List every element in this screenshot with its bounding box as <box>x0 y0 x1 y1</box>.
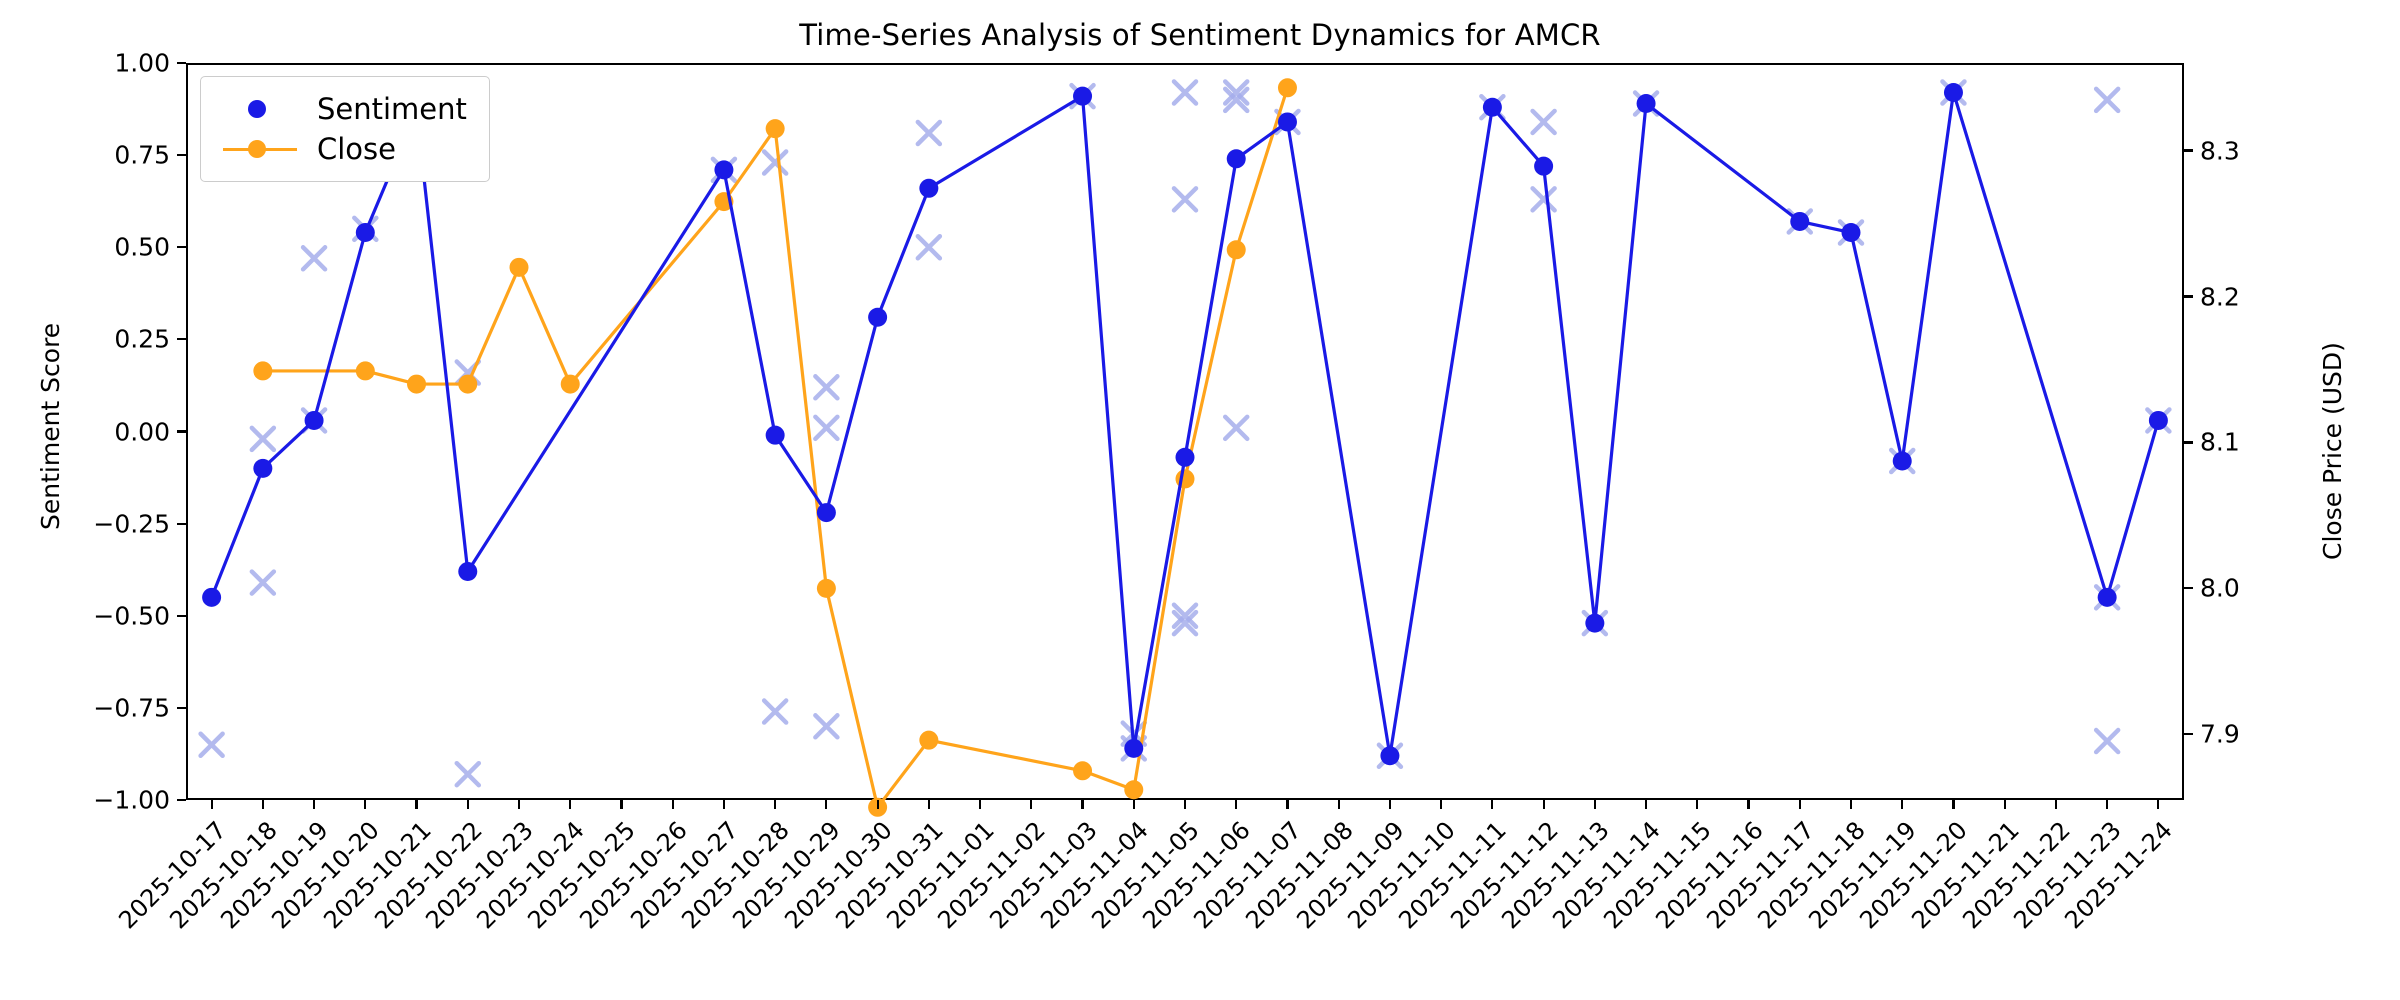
x-tick-mark <box>1184 800 1186 809</box>
y-tick-label-right: 8.2 <box>2200 282 2318 311</box>
x-tick-mark <box>1133 800 1135 809</box>
y-tick-mark-right <box>2184 587 2193 589</box>
x-tick-mark <box>1440 800 1442 809</box>
x-tick-mark <box>262 800 264 809</box>
x-tick-mark <box>774 800 776 809</box>
x-tick-mark <box>467 800 469 809</box>
x-tick-mark <box>1286 800 1288 809</box>
x-tick-mark <box>1235 800 1237 809</box>
y-tick-mark-left <box>177 62 186 64</box>
x-tick-mark <box>877 800 879 809</box>
x-tick-mark <box>1799 800 1801 809</box>
y-tick-mark-left <box>177 799 186 801</box>
x-tick-mark <box>2055 800 2057 809</box>
x-tick-mark <box>415 800 417 809</box>
y-tick-mark-left <box>177 154 186 156</box>
y-tick-mark-left <box>177 615 186 617</box>
legend-marker-close <box>217 138 303 160</box>
x-tick-mark <box>2004 800 2006 809</box>
chart-title: Time-Series Analysis of Sentiment Dynami… <box>0 18 2400 52</box>
legend-item-close[interactable]: Close <box>217 129 467 169</box>
x-tick-mark <box>672 800 674 809</box>
x-tick-mark <box>1338 800 1340 809</box>
x-tick-mark <box>2106 800 2108 809</box>
y-tick-mark-right <box>2184 295 2193 297</box>
y-tick-label-left: 0.00 <box>52 417 170 446</box>
legend-label-sentiment: Sentiment <box>317 92 467 126</box>
x-tick-mark <box>825 800 827 809</box>
y-tick-mark-right <box>2184 149 2193 151</box>
y-tick-mark-left <box>177 338 186 340</box>
chart-legend: Sentiment Close <box>200 76 490 182</box>
figure-canvas: Time-Series Analysis of Sentiment Dynami… <box>0 0 2400 1000</box>
x-tick-mark <box>313 800 315 809</box>
x-tick-mark <box>928 800 930 809</box>
x-tick-mark <box>1952 800 1954 809</box>
x-tick-mark <box>211 800 213 809</box>
x-tick-mark <box>1696 800 1698 809</box>
y-tick-label-left: 0.25 <box>52 325 170 354</box>
y-tick-mark-left <box>177 707 186 709</box>
x-tick-mark <box>1389 800 1391 809</box>
x-tick-mark <box>1850 800 1852 809</box>
legend-label-close: Close <box>317 132 396 166</box>
x-tick-mark <box>1081 800 1083 809</box>
legend-item-sentiment[interactable]: Sentiment <box>217 89 467 129</box>
y-tick-label-right: 8.3 <box>2200 136 2318 165</box>
y-tick-label-right: 8.1 <box>2200 428 2318 457</box>
x-tick-mark <box>620 800 622 809</box>
y-tick-label-right: 8.0 <box>2200 574 2318 603</box>
y-tick-label-right: 7.9 <box>2200 720 2318 749</box>
y-tick-mark-right <box>2184 733 2193 735</box>
x-tick-mark <box>1747 800 1749 809</box>
y-tick-mark-left <box>177 430 186 432</box>
y-tick-label-left: 0.50 <box>52 233 170 262</box>
y-tick-label-left: −1.00 <box>52 786 170 815</box>
x-tick-mark <box>518 800 520 809</box>
x-tick-mark <box>1543 800 1545 809</box>
y-tick-mark-right <box>2184 441 2193 443</box>
x-tick-mark <box>569 800 571 809</box>
x-tick-mark <box>979 800 981 809</box>
x-tick-mark <box>1030 800 1032 809</box>
x-tick-mark <box>723 800 725 809</box>
x-tick-mark <box>2157 800 2159 809</box>
y-tick-mark-left <box>177 523 186 525</box>
x-tick-mark <box>1645 800 1647 809</box>
y-tick-label-left: −0.25 <box>52 509 170 538</box>
x-tick-mark <box>1901 800 1903 809</box>
x-tick-mark <box>1491 800 1493 809</box>
y-tick-mark-left <box>177 246 186 248</box>
x-tick-mark <box>1594 800 1596 809</box>
y-tick-label-left: −0.50 <box>52 601 170 630</box>
y-axis-right-label: Close Price (USD) <box>2318 342 2347 560</box>
legend-marker-sentiment <box>217 98 303 120</box>
y-tick-label-left: −0.75 <box>52 693 170 722</box>
x-tick-mark <box>364 800 366 809</box>
y-tick-label-left: 1.00 <box>52 49 170 78</box>
y-tick-label-left: 0.75 <box>52 141 170 170</box>
